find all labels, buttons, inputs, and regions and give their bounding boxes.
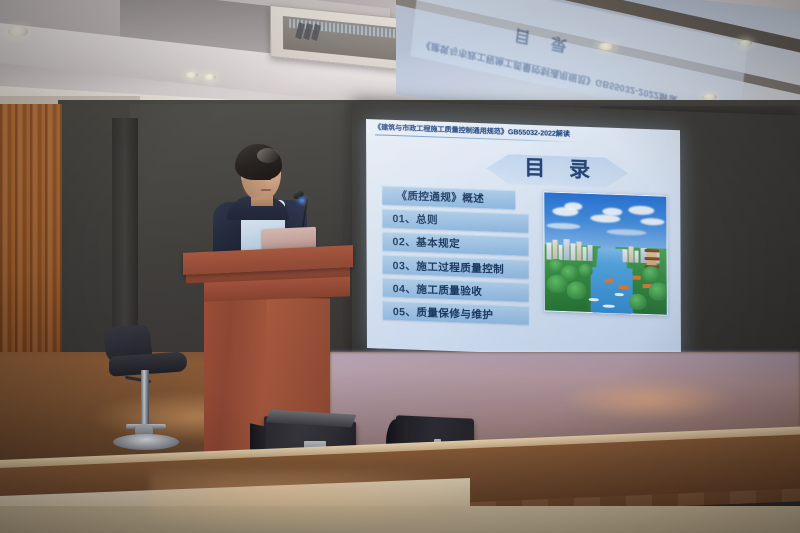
stage-warm-reflection — [560, 378, 740, 422]
photo-tree — [579, 264, 593, 278]
photo-rooftop — [633, 276, 641, 280]
photo-building — [635, 251, 639, 263]
microphone-led-indicator — [300, 199, 304, 202]
toc-item: 01、总则 — [382, 209, 528, 233]
slide-title-block: 目 录 — [481, 151, 631, 190]
toc-item: 《质控通规》概述 — [382, 186, 515, 209]
toc-item: 05、质量保修与维护 — [383, 301, 529, 325]
conference-hall-scene: 《建筑与市政工程施工质量控制通用规范》GB55032-2022解读 目 录 《建… — [0, 0, 800, 533]
photo-tree — [629, 293, 647, 310]
stool-base — [113, 434, 179, 450]
table-of-contents: 《质控通规》概述 01、总则 02、基本规定 03、施工过程质量控制 04、施工… — [382, 186, 529, 330]
reflected-slide-title: 目 录 — [513, 25, 576, 62]
toc-item-label: 《质控通规》概述 — [382, 188, 484, 207]
photo-river-wide — [591, 267, 633, 316]
photo-boat — [603, 304, 615, 307]
downlight-icon — [185, 72, 198, 78]
photo-building — [588, 245, 593, 261]
toc-item: 02、基本规定 — [382, 232, 528, 256]
photo-tree — [547, 274, 569, 293]
photo-building — [576, 242, 581, 261]
photo-building — [571, 243, 576, 260]
toc-item: 03、施工过程质量控制 — [383, 255, 529, 279]
photo-building — [547, 242, 552, 259]
toc-item: 04、施工质量验收 — [383, 278, 529, 302]
photo-boat — [615, 293, 624, 296]
photo-tree — [649, 282, 668, 301]
bar-stool — [99, 318, 191, 448]
toc-item-label: 04、施工质量验收 — [383, 280, 483, 299]
toc-item-label: 02、基本规定 — [382, 234, 460, 252]
toc-item-label: 05、质量保修与维护 — [383, 303, 494, 322]
pagoda-roof — [644, 249, 659, 252]
downlight-icon — [203, 74, 216, 80]
photo-building — [563, 239, 569, 260]
photo-rooftop — [604, 278, 613, 283]
ceiling-fixture-icon — [8, 26, 28, 37]
mouth — [261, 189, 271, 191]
pagoda-roof — [644, 257, 659, 260]
toc-item-label: 03、施工过程质量控制 — [383, 257, 505, 276]
photo-building — [629, 246, 634, 262]
photo-cloud — [564, 202, 582, 211]
photo-building — [623, 249, 628, 262]
floor-light-reflection — [150, 470, 480, 530]
downlight-icon — [598, 43, 615, 50]
toc-item-label: 01、总则 — [382, 211, 438, 228]
hair-highlight — [257, 148, 279, 163]
presentation-slide: 《建筑与市政工程施工质量控制通用规范》GB55032-2022解读 目 录 《质… — [366, 119, 681, 359]
photo-building — [583, 247, 587, 261]
photo-tree — [567, 281, 587, 300]
slide-photo-cityscape — [543, 191, 668, 315]
photo-building — [552, 240, 557, 260]
downlight-icon — [738, 40, 752, 46]
slide-main-title: 目 录 — [481, 154, 633, 185]
photo-tree — [643, 266, 661, 283]
photo-building — [559, 245, 563, 260]
photo-boat — [589, 298, 599, 301]
